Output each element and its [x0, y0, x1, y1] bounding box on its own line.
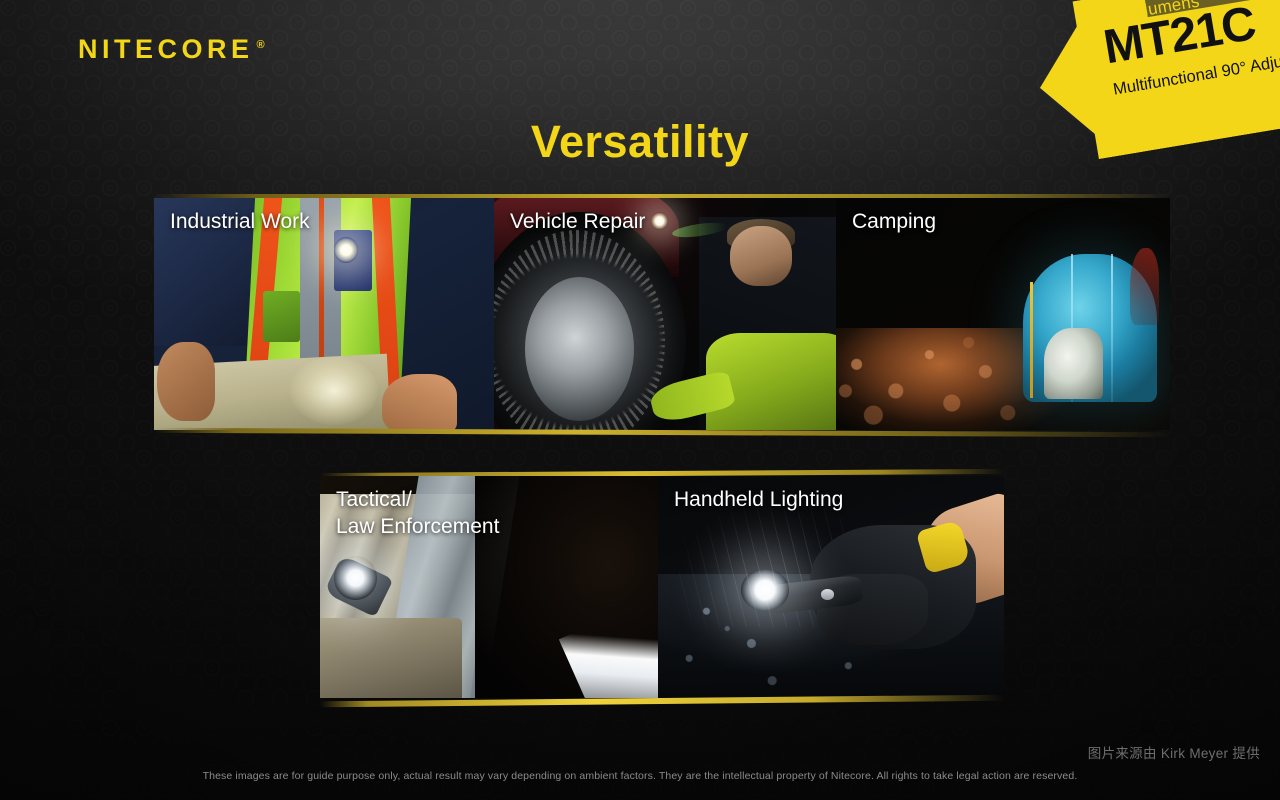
panel-caption-camping: Camping: [852, 209, 936, 236]
legal-disclaimer: These images are for guide purpose only,…: [0, 770, 1280, 782]
worker-hand-left: [157, 342, 215, 421]
tent-guy-line: [1030, 282, 1033, 398]
illuminated-tent: [1023, 254, 1157, 402]
panel-tactical-law-enforcement[interactable]: Tactical/ Law Enforcement: [320, 476, 658, 698]
slide-canvas: NITECORE® 1000 lumens MT21C Multifunctio…: [0, 0, 1280, 800]
registered-trademark-icon: ®: [257, 39, 265, 51]
panel-caption-handheld-lighting: Handheld Lighting: [674, 487, 843, 514]
panel-camping[interactable]: Camping: [836, 198, 1170, 430]
slide-title: Versatility: [0, 119, 1280, 164]
tent-door-opening: [1044, 328, 1103, 399]
beam-pool-on-paper: [290, 356, 378, 426]
worker-hand-right: [382, 374, 457, 430]
panel-vehicle-repair[interactable]: Vehicle Repair: [494, 198, 836, 430]
panel-caption-industrial-work: Industrial Work: [170, 209, 310, 236]
top-image-row: Industrial Work Vehicle Repair: [154, 198, 1170, 430]
nitecore-logo: NITECORE®: [78, 36, 265, 63]
alloy-wheel-rim: [525, 277, 634, 421]
panel-handheld-lighting[interactable]: Handheld Lighting: [658, 476, 1004, 698]
tent-pole-seam-right: [1111, 254, 1113, 402]
panel-caption-vehicle-repair: Vehicle Repair: [510, 209, 645, 236]
utility-pouch: [320, 618, 462, 698]
vest-pocket-green: [263, 291, 300, 342]
flashlight-beam-icon: [334, 237, 358, 263]
panel-industrial-work[interactable]: Industrial Work: [154, 198, 494, 430]
panel-caption-tactical: Tactical/ Law Enforcement: [336, 487, 499, 540]
logo-wordmark: NITECORE: [78, 34, 254, 64]
bottom-image-row: Tactical/ Law Enforcement Handheld Light…: [320, 476, 1004, 698]
mechanic-head: [730, 226, 792, 286]
image-credit: 图片来源由 Kirk Meyer 提供: [1088, 742, 1260, 762]
tent-rainfly: [1130, 248, 1159, 325]
